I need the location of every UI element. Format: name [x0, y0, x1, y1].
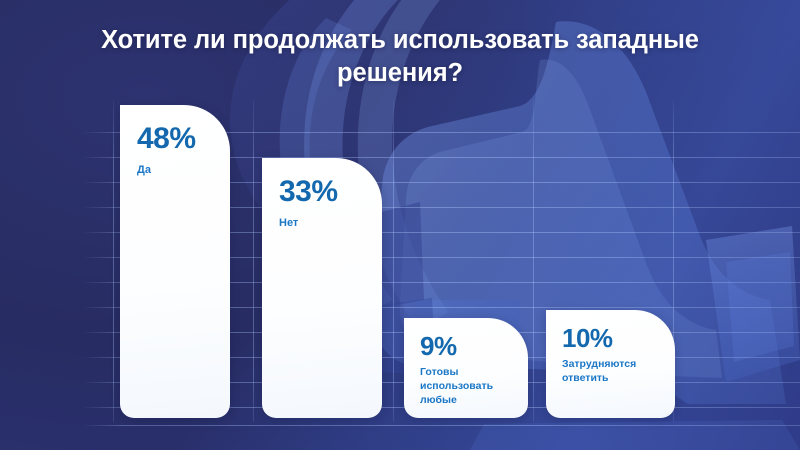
bar-label-zatrudnyayutsya: Затрудняются ответить: [562, 358, 657, 386]
bar-chart: 48% Да 33% Нет 9% Готовы использовать лю…: [0, 0, 800, 450]
bar-value-da: 48%: [137, 124, 230, 154]
slide-canvas: Хотите ли продолжать использовать западн…: [0, 0, 800, 450]
bar-da[interactable]: 48% Да: [120, 105, 230, 418]
bar-zatrudnyayutsya[interactable]: 10% Затрудняются ответить: [546, 310, 675, 418]
bar-label-net: Нет: [279, 216, 366, 231]
bar-value-zatrudnyayutsya: 10%: [562, 325, 675, 351]
bar-value-gotovy: 9%: [420, 333, 528, 359]
bar-label-gotovy: Готовы использовать любые: [420, 366, 511, 408]
bar-net[interactable]: 33% Нет: [262, 158, 382, 418]
bar-value-net: 33%: [279, 177, 382, 207]
bar-gotovy[interactable]: 9% Готовы использовать любые: [404, 318, 528, 418]
bar-label-da: Да: [137, 163, 215, 178]
